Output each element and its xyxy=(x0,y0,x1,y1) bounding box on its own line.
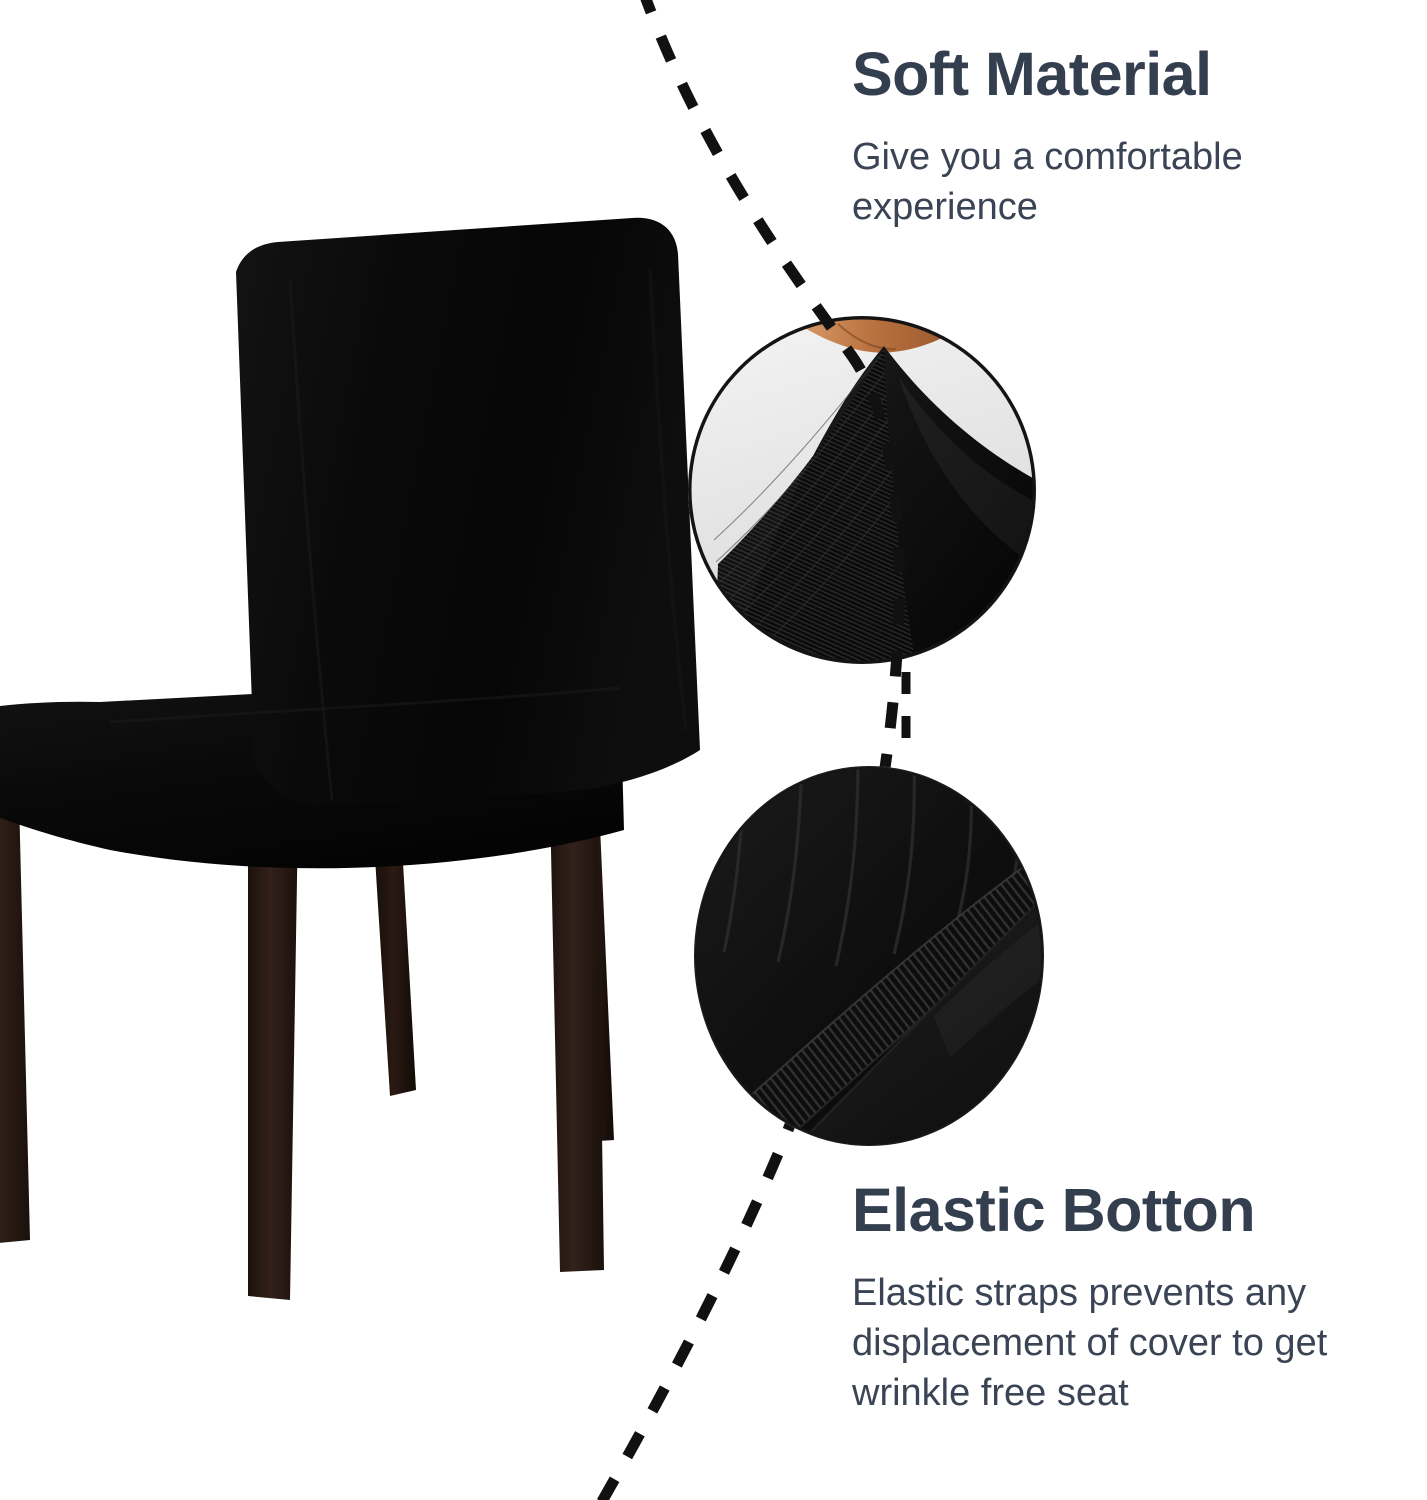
feature-text-soft-material: Soft Material Give you a comfortable exp… xyxy=(852,42,1418,232)
feature-body-soft-material: Give you a comfortable experience xyxy=(852,132,1418,232)
callout-circle-soft-material xyxy=(688,316,1036,664)
chair-product-image xyxy=(0,210,700,1330)
feature-headline-soft-material: Soft Material xyxy=(852,42,1418,106)
feature-body-elastic-botton: Elastic straps prevents any displacement… xyxy=(852,1268,1418,1418)
feature-headline-elastic-botton: Elastic Botton xyxy=(852,1178,1418,1242)
callout-circle-elastic-botton xyxy=(694,766,1044,1146)
feature-text-elastic-botton: Elastic Botton Elastic straps prevents a… xyxy=(852,1178,1418,1419)
infographic-canvas: Soft Material Give you a comfortable exp… xyxy=(0,0,1427,1500)
